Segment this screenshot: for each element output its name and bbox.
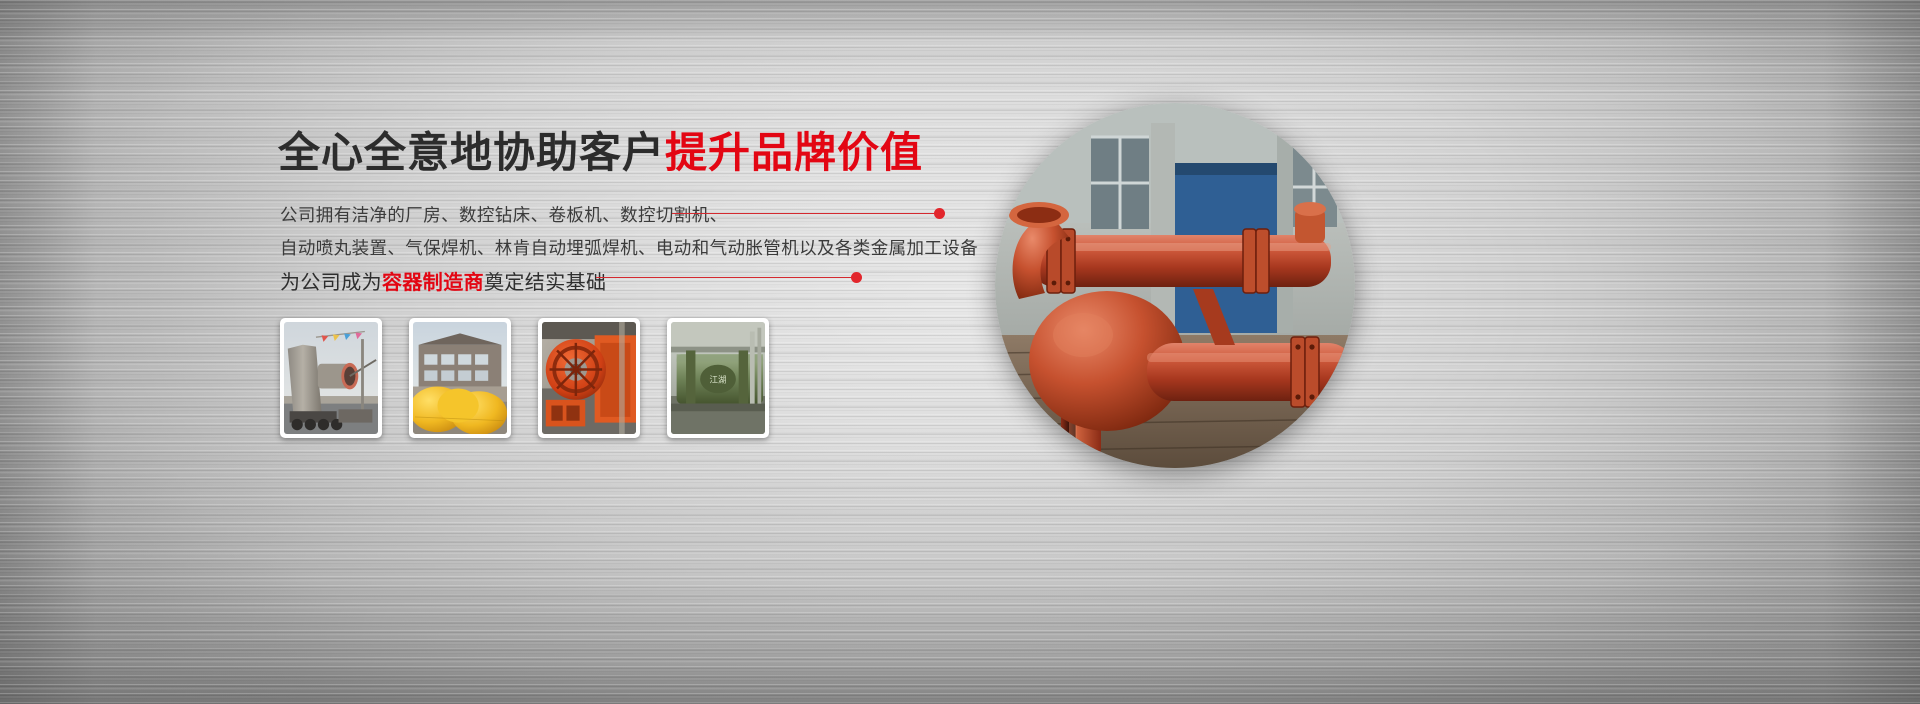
banner-hero: 全心全意地协助客户提升品牌价值 公司拥有洁净的厂房、数控钻床、卷板机、数控切割机… [0, 0, 1920, 704]
description-line-3-highlight: 容器制造商 [382, 272, 484, 294]
description-line-3: 为公司成为容器制造商奠定结实基础 [280, 266, 606, 295]
thumbnail-green-ball-mill[interactable]: 江湖 [667, 318, 769, 438]
thumbnail-image-4: 江湖 [671, 322, 765, 434]
connector-dot-upper [934, 208, 945, 219]
thumbnail-image-1 [284, 322, 378, 434]
page-title: 全心全意地协助客户提升品牌价值 [278, 130, 923, 176]
connector-dot-lower [851, 272, 862, 283]
thumbnail-strip: 江湖 [280, 318, 769, 438]
circular-photo-red-pressure-vessel-piping [995, 103, 1355, 468]
description-line-3-prefix: 为公司成为 [280, 272, 382, 294]
headline-primary: 全心全意地协助客户 [278, 129, 665, 176]
svg-text:江湖: 江湖 [710, 376, 727, 386]
thumbnail-yellow-pressure-vessels[interactable] [409, 318, 511, 438]
thumbnail-image-3 [542, 322, 636, 434]
description-line-1: 公司拥有洁净的厂房、数控钻床、卷板机、数控切割机、 [280, 202, 728, 227]
connector-rule-upper [672, 213, 934, 214]
connector-rule-lower [596, 277, 852, 278]
thumbnail-image-2 [413, 322, 507, 434]
thumbnail-orange-rolling-machine[interactable] [538, 318, 640, 438]
description-line-3-suffix: 奠定结实基础 [484, 272, 606, 294]
description-line-2: 自动喷丸装置、气保焊机、林肯自动埋弧焊机、电动和气动胀管机以及各类金属加工设备 [280, 235, 978, 260]
thumbnail-tank-head-transport[interactable] [280, 318, 382, 438]
headline-highlight: 提升品牌价值 [665, 129, 923, 176]
